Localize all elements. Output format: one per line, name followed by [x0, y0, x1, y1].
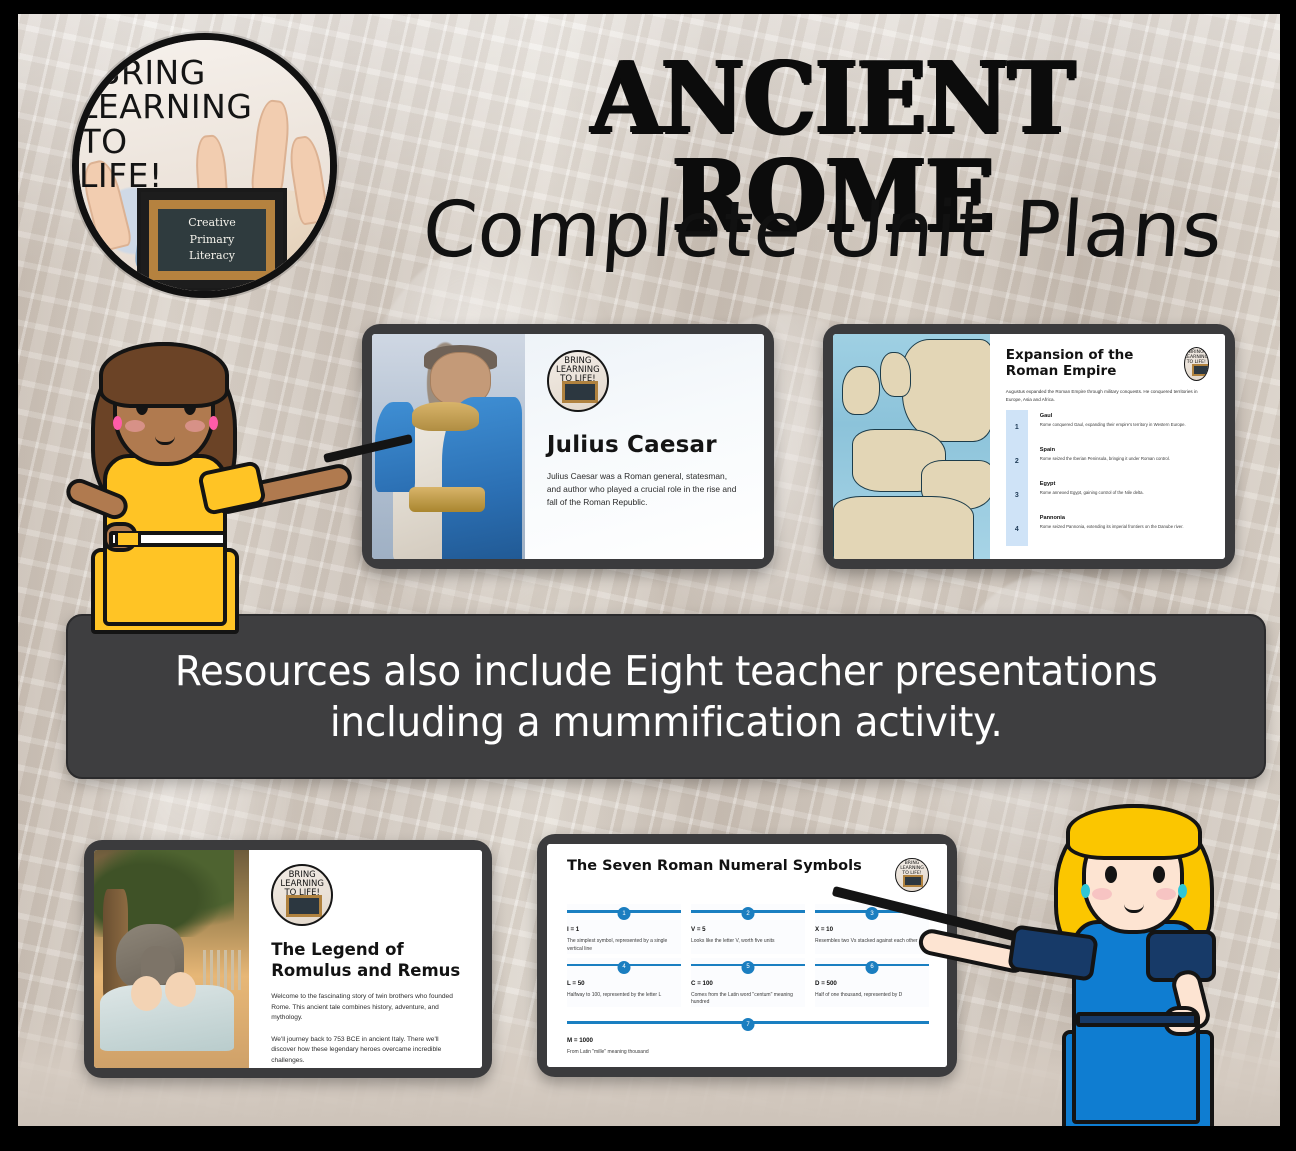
slide-brand-logo-icon: BRINGLEARNINGTO LIFE!	[895, 858, 929, 892]
cheek-blush	[185, 420, 205, 432]
numeral-step-dot: 4	[618, 961, 631, 974]
numeral-description: Looks like the letter V, worth five unit…	[691, 938, 805, 946]
earring	[1081, 884, 1090, 898]
page-subtitle: Complete Unit Plans	[375, 186, 1271, 275]
poster-frame: BRING LEARNING TO LIFE! Creative Primary…	[0, 0, 1296, 1151]
list-item-title: Spain	[1040, 447, 1170, 453]
earring	[209, 416, 218, 430]
mini-chalkboard-icon	[1192, 364, 1209, 376]
tablet-roman-expansion: Expansion of the Roman Empire BRINGLEARN…	[823, 324, 1235, 569]
cheek-blush	[1092, 888, 1112, 900]
numeral-progress-bar: 2	[691, 910, 805, 913]
caesar-slide-title: Julius Caesar	[547, 432, 742, 458]
numeral-symbol: X = 10	[815, 926, 929, 933]
numeral-description: Comes from the Latin word "centum" meani…	[691, 992, 805, 1008]
eye	[1105, 866, 1117, 883]
romulus-paragraph-2: We'll journey back to 753 BCE in ancient…	[271, 1035, 462, 1067]
list-item-number: 4	[1006, 512, 1028, 546]
teacher-character-blue	[1028, 800, 1280, 1126]
numeral-progress-bar: 7	[567, 1021, 929, 1024]
numeral-step-dot: 3	[866, 907, 879, 920]
chalk-line-1: Creative	[188, 215, 235, 232]
slide-roman-numerals: The Seven Roman Numeral Symbols BRINGLEA…	[547, 844, 947, 1067]
earring	[113, 416, 122, 430]
cheek-blush	[125, 420, 145, 432]
list-item-text: Spain Rome seized the Iberian Peninsula,…	[1028, 444, 1170, 462]
list-item-title: Pannonia	[1040, 515, 1184, 521]
numeral-description: The simplest symbol, represented by a si…	[567, 938, 681, 954]
map-landmass	[880, 352, 911, 397]
highlight-banner: Resources also include Eight teacher pre…	[66, 614, 1266, 779]
numerals-header-row: The Seven Roman Numeral Symbols BRINGLEA…	[567, 858, 929, 892]
mini-chalkboard-icon	[286, 895, 322, 917]
slide-brand-logo-icon: BRINGLEARNINGTO LIFE!	[271, 864, 333, 926]
tagline-line-3: TO LIFE!	[79, 125, 129, 194]
romulus-slide-body: BRINGLEARNINGTO LIFE! The Legend of Romu…	[249, 850, 482, 1068]
numeral-progress-bar: 6	[815, 964, 929, 967]
numeral-step-dot: 1	[618, 907, 631, 920]
tagline-line-2: LEARNING	[79, 90, 139, 124]
expansion-header-row: Expansion of the Roman Empire BRINGLEARN…	[1006, 347, 1209, 381]
mouth	[1124, 904, 1144, 913]
numeral-description: Halfway to 100, represented by the lette…	[567, 992, 681, 1000]
hair-front	[1066, 804, 1202, 860]
tablet-julius-caesar: BRINGLEARNINGTO LIFE! Julius Caesar Juli…	[362, 324, 774, 569]
map-landmass	[833, 496, 974, 559]
cheek-blush	[1156, 888, 1176, 900]
eye	[1153, 866, 1165, 883]
numeral-symbol: V = 5	[691, 926, 805, 933]
numerals-slide-body: The Seven Roman Numeral Symbols BRINGLEA…	[547, 844, 947, 1067]
list-item-title: Egypt	[1040, 481, 1144, 487]
numeral-step-dot: 6	[866, 961, 879, 974]
europe-map-image	[833, 334, 990, 559]
expansion-intro: Augustus expanded the Roman Empire throu…	[1006, 388, 1209, 403]
map-landmass	[902, 339, 990, 443]
list-item-desc: Rome conquered Gaul, expanding their emp…	[1040, 422, 1186, 428]
tablet-romulus-remus: BRINGLEARNINGTO LIFE! The Legend of Romu…	[84, 840, 492, 1078]
numeral-card: 2 V = 5 Looks like the letter V, worth f…	[691, 904, 805, 954]
list-item-text: Pannonia Rome seized Pannonia, extending…	[1028, 512, 1184, 530]
caesar-belt	[409, 487, 485, 512]
numeral-symbol: M = 1000	[567, 1037, 929, 1044]
chalk-line-2: Primary	[190, 232, 235, 249]
numeral-step-dot: 2	[742, 907, 755, 920]
numeral-description: Half of one thousand, represented by D	[815, 992, 929, 1000]
mouth	[155, 436, 175, 445]
list-item: 4 Pannonia Rome seized Pannonia, extendi…	[1006, 512, 1209, 546]
numeral-progress-bar: 4	[567, 964, 681, 967]
numeral-step-dot: 5	[742, 961, 755, 974]
list-item-title: Gaul	[1040, 413, 1186, 419]
numeral-symbol: L = 50	[567, 980, 681, 987]
belt-buckle	[115, 533, 141, 545]
slide-brand-logo-icon: BRINGLEARNINGTO LIFE!	[547, 350, 609, 412]
tagline-line-1: BRING	[79, 56, 225, 90]
list-item-number: 2	[1006, 444, 1028, 478]
slide-julius-caesar: BRINGLEARNINGTO LIFE! Julius Caesar Juli…	[372, 334, 764, 559]
list-item-desc: Rome seized Pannonia, extending its impe…	[1040, 524, 1184, 530]
numeral-card: 1 I = 1 The simplest symbol, represented…	[567, 904, 681, 954]
caesar-armor	[412, 402, 479, 431]
numeral-symbol: D = 500	[815, 980, 929, 987]
banner-line-2: including a mummification activity.	[175, 697, 1158, 747]
chalkboard-inner: Creative Primary Literacy	[149, 200, 275, 280]
list-item-text: Egypt Rome annexed Egypt, gaining contro…	[1028, 478, 1144, 496]
tablet-roman-numerals: The Seven Roman Numeral Symbols BRINGLEA…	[537, 834, 957, 1077]
chalk-line-3: Literacy	[189, 248, 235, 265]
teacher-character-yellow	[73, 336, 353, 626]
brand-tagline: BRING LEARNING TO LIFE!	[79, 56, 330, 193]
numeral-description: Resembles two Vs stacked against each ot…	[815, 938, 929, 946]
mini-chalkboard-icon	[562, 381, 598, 403]
list-item-text: Gaul Rome conquered Gaul, expanding thei…	[1028, 410, 1186, 428]
banner-line-1: Resources also include Eight teacher pre…	[175, 646, 1158, 696]
list-item: 3 Egypt Rome annexed Egypt, gaining cont…	[1006, 478, 1209, 512]
map-landmass	[842, 366, 880, 416]
numeral-symbol: C = 100	[691, 980, 805, 987]
list-item-number: 1	[1006, 410, 1028, 444]
slide-brand-logo-icon: BRINGLEARNINGTO LIFE!	[1184, 347, 1209, 381]
romulus-slide-title: The Legend of Romulus and Remus	[271, 940, 462, 981]
list-item-desc: Rome seized the Iberian Peninsula, bring…	[1040, 456, 1170, 462]
hair-front	[99, 342, 229, 408]
romulus-paragraph-1: Welcome to the fascinating story of twin…	[271, 992, 462, 1024]
expansion-slide-title: Expansion of the Roman Empire	[1006, 347, 1184, 379]
mini-chalkboard-icon	[903, 875, 923, 887]
roman-ruins-decor	[203, 950, 243, 989]
numeral-step-dot: 7	[742, 1018, 755, 1031]
numerals-grid: 1 I = 1 The simplest symbol, represented…	[567, 904, 929, 1007]
conquest-list: 1 Gaul Rome conquered Gaul, expanding th…	[1006, 410, 1209, 546]
caesar-slide-paragraph: Julius Caesar was a Roman general, state…	[547, 470, 742, 509]
numeral-description: From Latin "mille" meaning thousand	[567, 1049, 929, 1057]
numeral-progress-bar: 5	[691, 964, 805, 967]
numeral-card: 4 L = 50 Halfway to 100, represented by …	[567, 958, 681, 1008]
numeral-card-wide: 7 M = 1000 From Latin "mille" meaning th…	[567, 1015, 929, 1057]
chalkboard-icon: Creative Primary Literacy	[137, 188, 287, 292]
numeral-symbol: I = 1	[567, 926, 681, 933]
numeral-card: 5 C = 100 Comes from the Latin word "cen…	[691, 958, 805, 1008]
list-item-desc: Rome annexed Egypt, gaining control of t…	[1040, 490, 1144, 496]
numerals-slide-title: The Seven Roman Numeral Symbols	[567, 858, 862, 874]
poster-stage: BRING LEARNING TO LIFE! Creative Primary…	[18, 14, 1280, 1126]
slide-roman-expansion: Expansion of the Roman Empire BRINGLEARN…	[833, 334, 1225, 559]
expansion-slide-body: Expansion of the Roman Empire BRINGLEARN…	[990, 334, 1225, 559]
slide-romulus-remus: BRINGLEARNINGTO LIFE! The Legend of Romu…	[94, 850, 482, 1068]
numeral-progress-bar: 1	[567, 910, 681, 913]
caesar-slide-body: BRINGLEARNINGTO LIFE! Julius Caesar Juli…	[525, 334, 764, 559]
romulus-remus-illustration	[94, 850, 249, 1068]
banner-text: Resources also include Eight teacher pre…	[175, 646, 1158, 746]
list-item-number: 3	[1006, 478, 1028, 512]
brand-logo-badge: BRING LEARNING TO LIFE! Creative Primary…	[72, 33, 337, 298]
earring	[1178, 884, 1187, 898]
list-item: 2 Spain Rome seized the Iberian Peninsul…	[1006, 444, 1209, 478]
list-item: 1 Gaul Rome conquered Gaul, expanding th…	[1006, 410, 1209, 444]
numeral-card: 6 D = 500 Half of one thousand, represen…	[815, 958, 929, 1008]
belt	[1076, 1012, 1198, 1027]
